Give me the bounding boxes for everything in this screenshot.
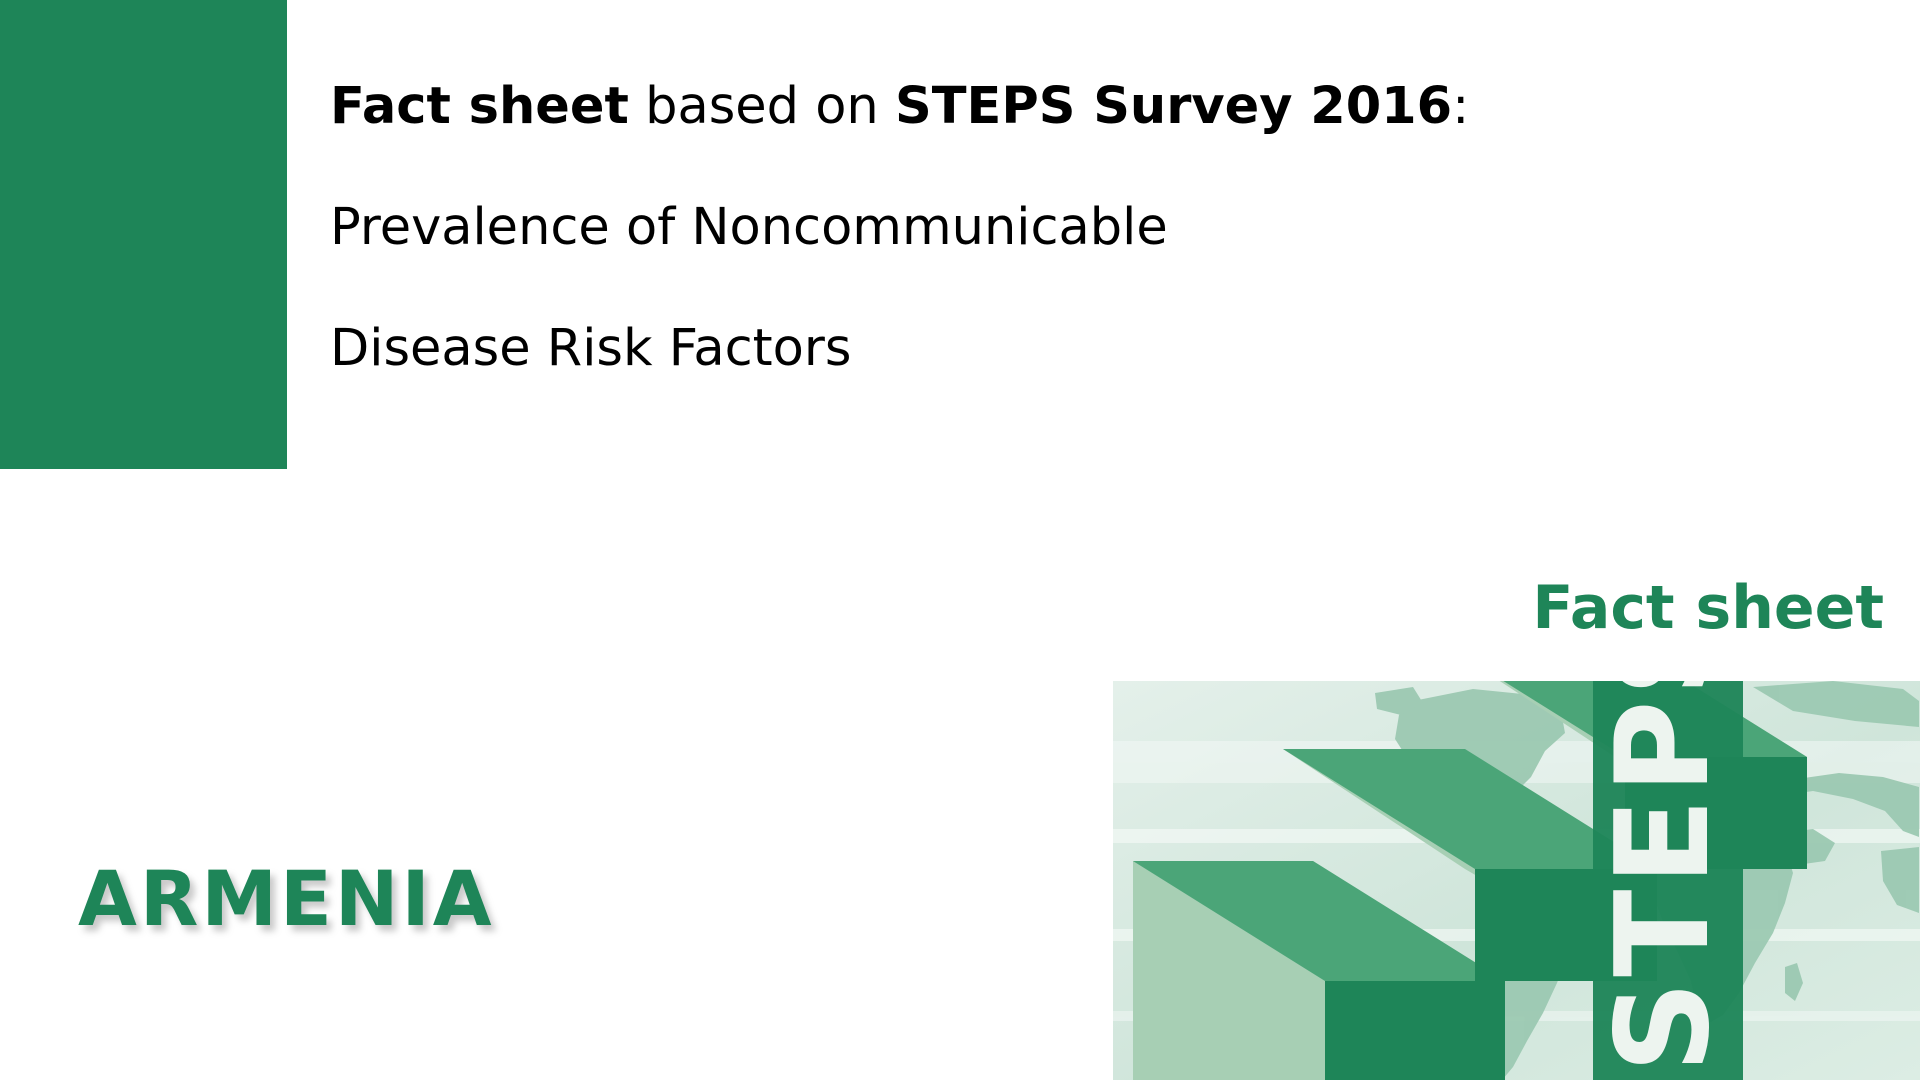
title-bold-fact-sheet: Fact sheet <box>330 77 629 136</box>
page-title: Fact sheet based on STEPS Survey 2016: P… <box>330 46 1730 409</box>
country-name: ARMENIA <box>78 857 495 941</box>
title-line-2: Prevalence of Noncommunicable <box>330 167 1730 288</box>
title-subtitle-line-1: Prevalence of Noncommunicable <box>330 198 1168 257</box>
title-regular-based-on: based on <box>629 77 895 136</box>
title-line-3: Disease Risk Factors <box>330 288 1730 409</box>
steps-logo-svg: STEPS <box>1113 681 1920 1080</box>
steps-logo: STEPS <box>1113 681 1920 1080</box>
green-accent-block <box>0 0 287 469</box>
title-regular-colon: : <box>1452 77 1469 136</box>
title-line-1: Fact sheet based on STEPS Survey 2016: <box>330 46 1730 167</box>
fact-sheet-heading: Fact sheet <box>1532 572 1884 644</box>
title-bold-steps-survey-2016: STEPS Survey 2016 <box>895 77 1452 136</box>
steps-wordmark-text: STEPS <box>1589 681 1738 1073</box>
title-subtitle-line-2: Disease Risk Factors <box>330 319 851 378</box>
